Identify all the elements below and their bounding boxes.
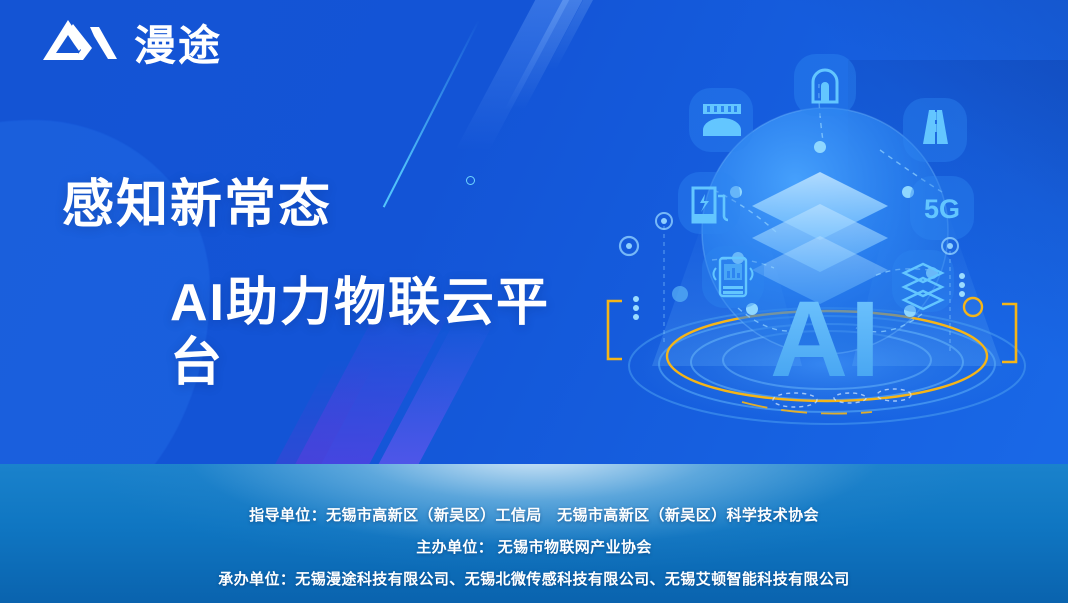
footer-line-guidance: 指导单位：无锡市高新区（新吴区）工信局 无锡市高新区（新吴区）科学技术协会 xyxy=(249,504,819,525)
node-mobile-analytics xyxy=(702,246,764,308)
title-line-1: 感知新常态 xyxy=(0,176,560,236)
footer-line-host: 主办单位： 无锡市物联网产业协会 xyxy=(416,536,652,557)
title-line-2: AI助力物联云平台 xyxy=(0,274,560,394)
mountain-chevron-logo-icon xyxy=(38,18,120,74)
ai-center-label: AI xyxy=(770,278,882,399)
illustration-svg: 5G xyxy=(592,46,1062,446)
footer-line-organizer: 承办单位：无锡漫途科技有限公司、无锡北微传感科技有限公司、无锡艾顿智能科技有限公… xyxy=(218,568,849,589)
brand-name: 漫途 xyxy=(134,25,222,67)
node-charging-station xyxy=(678,172,740,234)
light-streak xyxy=(504,0,604,110)
brand-logo: 漫途 xyxy=(38,18,222,74)
node-bridge xyxy=(689,88,753,152)
footer-band: 指导单位：无锡市高新区（新吴区）工信局 无锡市高新区（新吴区）科学技术协会 主办… xyxy=(0,464,1068,603)
node-highway xyxy=(903,98,967,162)
node-5g-badge: 5G xyxy=(910,176,974,240)
node-tunnel xyxy=(794,54,856,116)
ai-iot-illustration: 5G xyxy=(592,46,1062,446)
poster-canvas: 漫途 感知新常态 AI助力物联云平台 xyxy=(0,0,1068,603)
node-stacked-layers xyxy=(892,250,954,312)
light-streak xyxy=(455,0,590,150)
5g-label: 5G xyxy=(924,194,960,224)
headline-block: 感知新常态 AI助力物联云平台 xyxy=(0,176,560,393)
